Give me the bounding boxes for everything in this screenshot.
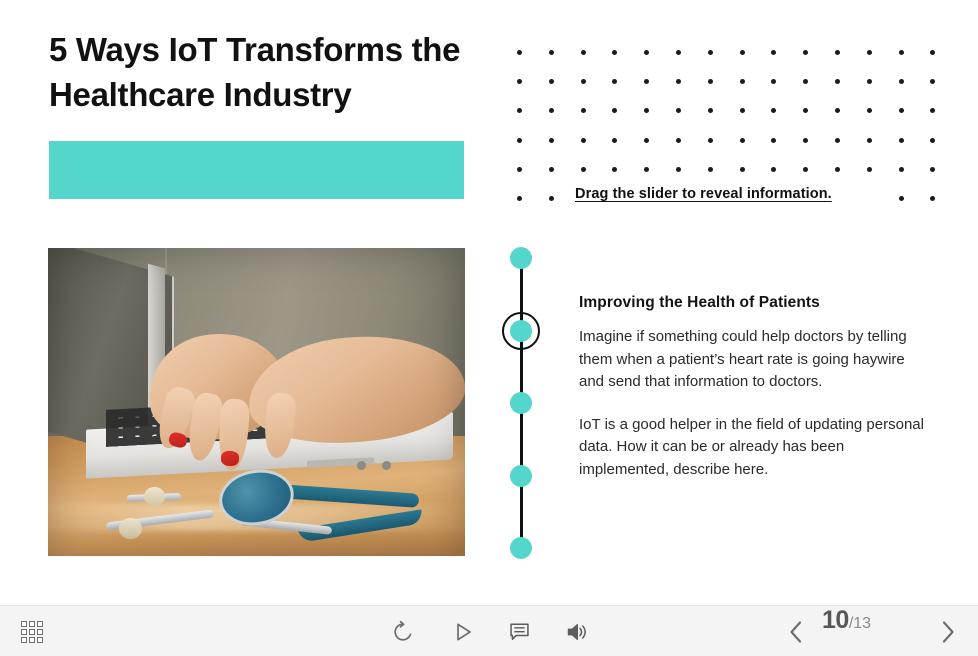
grid-dot xyxy=(835,138,840,143)
total-pages-label: /13 xyxy=(849,615,871,633)
hero-photo xyxy=(48,248,465,556)
grid-dot xyxy=(517,50,522,55)
grid-dot xyxy=(899,108,904,113)
grid-dot xyxy=(676,108,681,113)
grid-dot xyxy=(835,79,840,84)
grid-dot xyxy=(771,50,776,55)
grid-dot xyxy=(740,167,745,172)
grid-dot xyxy=(899,167,904,172)
grid-dot xyxy=(930,79,935,84)
grid-dot xyxy=(803,79,808,84)
grid-dot xyxy=(708,79,713,84)
grid-dot xyxy=(676,138,681,143)
next-slide-button[interactable] xyxy=(928,606,968,656)
grid-dot xyxy=(835,50,840,55)
previous-slide-button[interactable] xyxy=(776,606,816,656)
grid-dot xyxy=(549,167,554,172)
grid-dot xyxy=(771,167,776,172)
grid-dot xyxy=(708,167,713,172)
replay-button[interactable] xyxy=(381,606,425,656)
grid-dot xyxy=(740,138,745,143)
grid-dot xyxy=(771,138,776,143)
volume-icon xyxy=(565,620,589,644)
grid-dot xyxy=(771,79,776,84)
grid-dot xyxy=(708,50,713,55)
grid-dot xyxy=(549,196,554,201)
slider-step-dot[interactable] xyxy=(510,247,532,269)
slider-step-dot[interactable] xyxy=(510,465,532,487)
grid-dot xyxy=(581,108,586,113)
grid-dot xyxy=(581,50,586,55)
grid-dot xyxy=(517,196,522,201)
grid-dot xyxy=(581,138,586,143)
grid-dot xyxy=(930,138,935,143)
content-paragraph: IoT is a good helper in the field of upd… xyxy=(579,414,924,482)
grid-dot xyxy=(612,167,617,172)
grid-dot xyxy=(612,108,617,113)
grid-dot xyxy=(644,79,649,84)
chevron-left-icon xyxy=(785,619,807,645)
grid-dot xyxy=(867,50,872,55)
speech-bubble-icon xyxy=(508,620,531,643)
photo-laptop-port-1 xyxy=(357,460,366,470)
grid-dot xyxy=(517,79,522,84)
grid-dot xyxy=(899,50,904,55)
grid-dot xyxy=(803,138,808,143)
grid-dot xyxy=(867,79,872,84)
grid-dot xyxy=(708,108,713,113)
grid-dot xyxy=(581,79,586,84)
grid-dot xyxy=(517,108,522,113)
replay-icon xyxy=(391,620,415,644)
grid-dot xyxy=(899,79,904,84)
photo-stethoscope-earpiece-1 xyxy=(119,518,142,540)
grid-dot xyxy=(740,108,745,113)
slider-step-dot[interactable] xyxy=(510,392,532,414)
grid-dot xyxy=(803,50,808,55)
play-button[interactable] xyxy=(441,606,485,656)
grid-dot xyxy=(708,138,713,143)
photo-laptop-port-2 xyxy=(382,460,391,470)
grid-dot xyxy=(930,50,935,55)
grid-dot xyxy=(740,50,745,55)
content-paragraph: Imagine if something could help doctors … xyxy=(579,326,924,394)
volume-button[interactable] xyxy=(555,606,599,656)
grid-dot xyxy=(867,138,872,143)
photo-stethoscope-earpiece-2 xyxy=(144,487,165,507)
notes-button[interactable] xyxy=(497,606,541,656)
current-page-number: 10 xyxy=(822,606,849,635)
grid-icon xyxy=(21,621,43,643)
grid-dot xyxy=(930,196,935,201)
grid-dot xyxy=(549,108,554,113)
content-panel: Improving the Health of Patients Imagine… xyxy=(579,294,924,481)
grid-dot xyxy=(867,167,872,172)
vertical-slider[interactable] xyxy=(498,246,546,566)
grid-dot xyxy=(517,167,522,172)
grid-dot xyxy=(835,108,840,113)
grid-dot xyxy=(644,167,649,172)
slide-menu-button[interactable] xyxy=(10,606,54,656)
grid-dot xyxy=(899,196,904,201)
slider-hint-text: Drag the slider to reveal information. xyxy=(575,186,832,202)
grid-dot xyxy=(899,138,904,143)
grid-dot xyxy=(835,167,840,172)
grid-dot xyxy=(676,50,681,55)
grid-dot xyxy=(644,108,649,113)
grid-dot xyxy=(612,50,617,55)
grid-dot xyxy=(803,108,808,113)
grid-dot xyxy=(549,50,554,55)
content-heading: Improving the Health of Patients xyxy=(579,294,924,312)
decorative-dot-grid xyxy=(0,0,978,215)
grid-dot xyxy=(803,167,808,172)
grid-dot xyxy=(549,138,554,143)
grid-dot xyxy=(612,138,617,143)
grid-dot xyxy=(930,108,935,113)
grid-dot xyxy=(930,167,935,172)
slider-thumb[interactable] xyxy=(510,320,532,342)
page-indicator: 10 /13 xyxy=(822,606,871,656)
grid-dot xyxy=(740,79,745,84)
chevron-right-icon xyxy=(937,619,959,645)
grid-dot xyxy=(644,138,649,143)
grid-dot xyxy=(867,108,872,113)
grid-dot xyxy=(771,108,776,113)
grid-dot xyxy=(581,167,586,172)
player-toolbar: 10 /13 xyxy=(0,605,978,656)
slider-step-dot[interactable] xyxy=(510,537,532,559)
grid-dot xyxy=(676,167,681,172)
grid-dot xyxy=(549,79,554,84)
grid-dot xyxy=(644,50,649,55)
grid-dot xyxy=(676,79,681,84)
grid-dot xyxy=(517,138,522,143)
play-icon xyxy=(451,620,475,644)
grid-dot xyxy=(612,79,617,84)
slide-canvas: 5 Ways IoT Transforms the Healthcare Ind… xyxy=(0,0,978,656)
